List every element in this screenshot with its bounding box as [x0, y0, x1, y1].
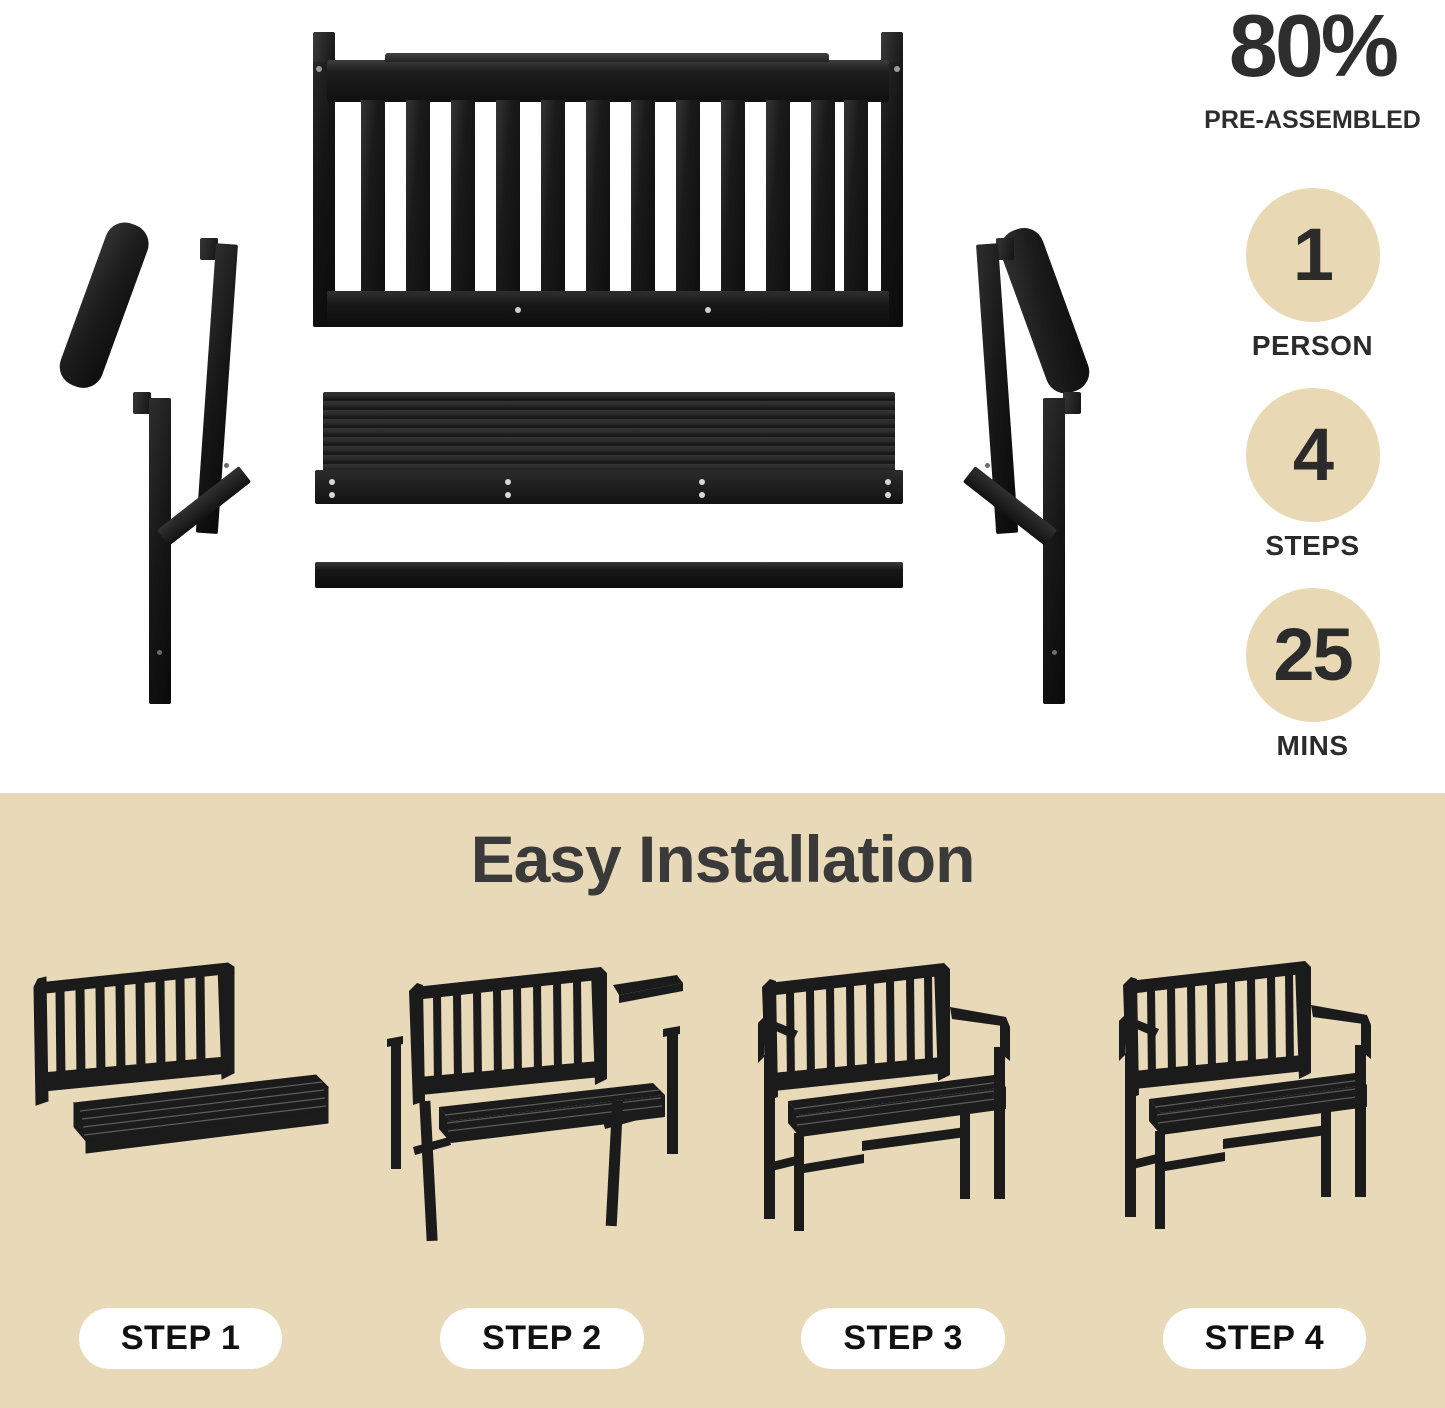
backrest-top-rail — [327, 60, 889, 102]
backrest-bolt-right — [894, 66, 900, 72]
backrest-slat — [406, 100, 430, 292]
badge-mins-number: 25 — [1273, 618, 1351, 692]
step-3-bench-svg — [738, 951, 1068, 1251]
seat-screw-hole — [505, 479, 511, 485]
backrest-right-post-cap — [881, 32, 903, 62]
badge-person-number: 1 — [1293, 218, 1332, 292]
seat-front-rail — [315, 470, 903, 504]
pre-assembled-percent: 80% — [1180, 2, 1445, 90]
backrest-left-post-cap — [313, 32, 335, 62]
parts-diagram — [0, 0, 1180, 793]
backrest-bottom-rail — [327, 291, 889, 327]
seat-slats — [323, 392, 895, 478]
right-front-leg-post — [1043, 398, 1065, 704]
right-front-leg-hole — [1052, 650, 1057, 655]
step-3-illustration — [738, 951, 1068, 1251]
installation-step: STEP 1 — [0, 943, 361, 1383]
part-support-bar — [315, 562, 903, 588]
step-1-label: STEP 1 — [79, 1308, 283, 1369]
backrest-slat — [496, 100, 520, 292]
step-3-label: STEP 3 — [801, 1308, 1005, 1369]
seat-screw-hole — [329, 492, 335, 498]
installation-step: STEP 2 — [361, 943, 722, 1383]
backrest-bolt-left — [316, 66, 322, 72]
info-rail: 80% PRE-ASSEMBLED 1 PERSON 4 STEPS 25 MI… — [1180, 0, 1445, 793]
badge-mins: 25 MINS — [1180, 588, 1445, 762]
easy-installation-section: Easy Installation — [0, 793, 1445, 1408]
backrest-slat — [541, 100, 565, 292]
step-1-bench-svg — [16, 951, 346, 1251]
badge-mins-label: MINS — [1180, 730, 1445, 762]
left-front-leg-hole — [157, 650, 162, 655]
backrest-slat — [361, 100, 385, 292]
backrest-slat — [631, 100, 655, 292]
exploded-parts-section: 80% PRE-ASSEMBLED 1 PERSON 4 STEPS 25 MI… — [0, 0, 1445, 793]
step-4-illustration — [1099, 951, 1429, 1251]
seat-screw-hole — [699, 492, 705, 498]
seat-screw-hole — [699, 479, 705, 485]
badge-person-label: PERSON — [1180, 330, 1445, 362]
right-front-leg-tab — [1063, 392, 1081, 414]
step-2-label: STEP 2 — [440, 1308, 644, 1369]
backrest-slat — [586, 100, 610, 292]
step-4-label: STEP 4 — [1163, 1308, 1367, 1369]
easy-installation-title: Easy Installation — [0, 821, 1445, 897]
step-1-illustration — [16, 951, 346, 1251]
seat-screw-hole — [885, 492, 891, 498]
installation-step: STEP 3 — [723, 943, 1084, 1383]
step-2-bench-svg — [377, 951, 707, 1251]
left-armrest-body — [54, 217, 154, 394]
backrest-screw-hole — [515, 307, 521, 313]
badge-steps-circle: 4 — [1246, 388, 1380, 522]
badge-steps: 4 STEPS — [1180, 388, 1445, 562]
badge-person-circle: 1 — [1246, 188, 1380, 322]
left-front-leg-post — [149, 398, 171, 704]
part-left-front-leg — [133, 392, 253, 704]
backrest-slat — [676, 100, 700, 292]
seat-screw-hole — [505, 492, 511, 498]
badge-steps-label: STEPS — [1180, 530, 1445, 562]
backrest-screw-hole — [705, 307, 711, 313]
step-2-illustration — [377, 951, 707, 1251]
part-left-armrest — [55, 217, 170, 397]
part-backrest-panel — [313, 32, 903, 327]
badge-steps-number: 4 — [1293, 418, 1332, 492]
step-4-bench-svg — [1099, 951, 1429, 1251]
installation-steps-row: STEP 1 — [0, 943, 1445, 1383]
backrest-slat — [721, 100, 745, 292]
part-seat-panel — [315, 392, 903, 504]
backrest-slat — [451, 100, 475, 292]
backrest-slat — [811, 100, 835, 292]
part-right-front-leg — [961, 392, 1081, 704]
badge-mins-circle: 25 — [1246, 588, 1380, 722]
installation-step: STEP 4 — [1084, 943, 1445, 1383]
seat-screw-hole — [885, 479, 891, 485]
backrest-slat — [766, 100, 790, 292]
pre-assembled-label: PRE-ASSEMBLED — [1180, 106, 1445, 135]
badge-person: 1 PERSON — [1180, 188, 1445, 362]
seat-screw-hole — [329, 479, 335, 485]
backrest-slat — [844, 100, 868, 292]
